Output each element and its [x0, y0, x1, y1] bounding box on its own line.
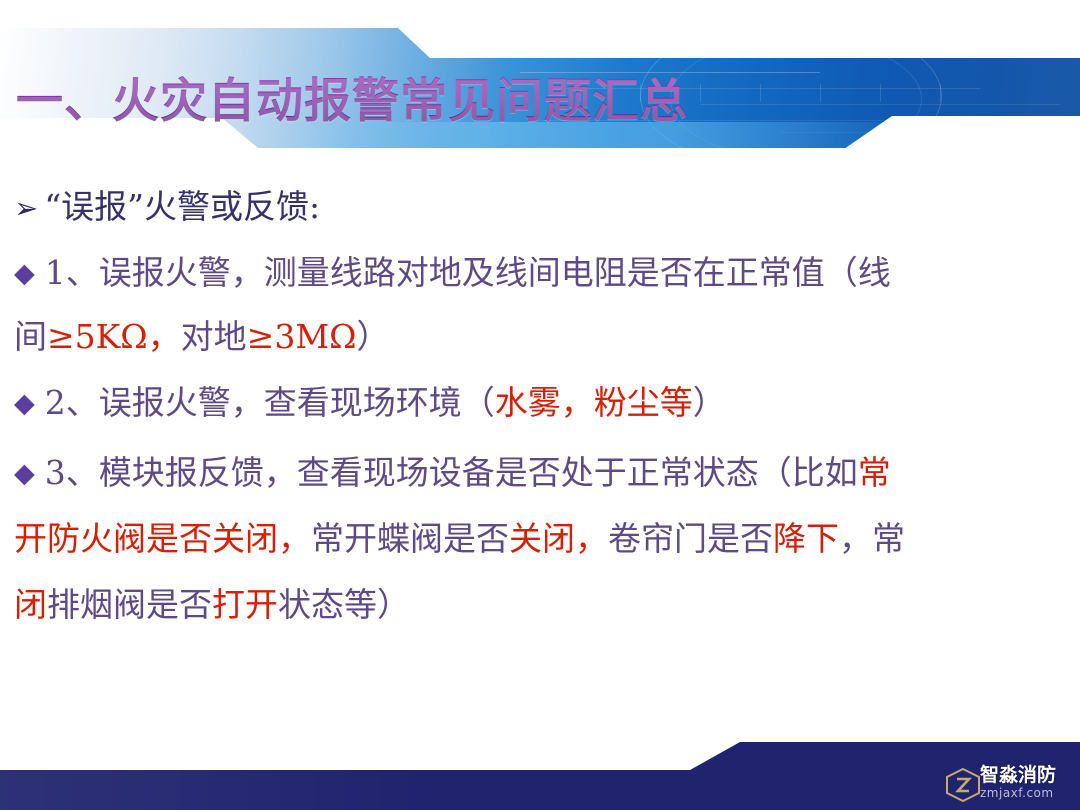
item-text-3-seg-0: 模块报反馈，查看现场设备是否处于正常状态（比如	[99, 453, 858, 492]
content-line-item-1-cont: 间≥5KΩ，对地≥3MΩ）	[14, 310, 1066, 358]
item-number-3: 3、	[45, 453, 99, 492]
item-text-1-seg-0: 误报火警，测量线路对地及线间电阻是否在正常值（线	[99, 253, 891, 292]
item-3-contA-seg-0: 开防火阀是否关闭，	[14, 519, 311, 558]
item-3-contA-seg-3: 卷帘门是否	[608, 519, 773, 558]
item-1-cont-seg-0: 间	[14, 317, 47, 356]
item-1-cont-seg-4: ）	[356, 317, 389, 356]
item-3-contB-seg-0: 闭	[14, 585, 47, 624]
content-line-item-3: ◆3、模块报反馈，查看现场设备是否处于正常状态（比如常	[14, 446, 1066, 494]
item-3-contA-seg-1: 常开蝶阀是否	[311, 519, 509, 558]
slide-body: ➢“误报”火警或反馈: ◆1、误报火警，测量线路对地及线间电阻是否在正常值（线 …	[0, 168, 1080, 748]
diamond-bullet-icon: ◆	[14, 258, 45, 289]
item-1-cont-seg-2: 对地	[181, 317, 247, 356]
item-3-contA-seg-4: 降下	[773, 519, 839, 558]
content-line-item-2: ◆2、误报火警，查看现场环境（水雾，粉尘等）	[14, 376, 1066, 424]
slide-canvas: 一、火灾自动报警常见问题汇总 ➢“误报”火警或反馈: ◆1、误报火警，测量线路对…	[0, 0, 1080, 810]
lead-line: ➢“误报”火警或反馈:	[14, 180, 1066, 228]
item-1-cont-seg-3: ≥3MΩ	[247, 317, 357, 356]
item-text-3-seg-1: 常	[858, 453, 891, 492]
content-line-item-3-cont-a: 开防火阀是否关闭，常开蝶阀是否关闭，卷帘门是否降下，常	[14, 512, 1066, 560]
item-number-1: 1、	[45, 253, 99, 292]
watermark-logo-icon	[946, 768, 980, 802]
item-1-cont-seg-1: ≥5KΩ，	[47, 317, 181, 356]
item-3-contB-seg-3: 状态等）	[278, 585, 410, 624]
diamond-bullet-icon: ◆	[14, 458, 45, 489]
content-line-item-3-cont-b: 闭排烟阀是否打开状态等）	[14, 578, 1066, 626]
item-3-contB-seg-2: 打开	[212, 585, 278, 624]
watermark-text: 智淼消防 zmjaxf.com	[980, 764, 1072, 800]
item-3-contA-seg-2: 关闭，	[509, 519, 608, 558]
watermark: 智淼消防 zmjaxf.com	[946, 762, 1072, 806]
item-text-2-seg-1: 水雾，粉尘等	[495, 383, 693, 422]
item-number-2: 2、	[45, 383, 99, 422]
arrow-bullet-icon: ➢	[14, 191, 44, 225]
content-line-item-1: ◆1、误报火警，测量线路对地及线间电阻是否在正常值（线	[14, 246, 1066, 294]
item-text-2-seg-0: 误报火警，查看现场环境（	[99, 383, 495, 422]
item-3-contB-seg-1: 排烟阀是否	[47, 585, 212, 624]
watermark-url: zmjaxf.com	[980, 786, 1072, 800]
watermark-name: 智淼消防	[980, 764, 1072, 786]
item-3-contA-seg-5: ，常	[839, 519, 905, 558]
slide-title: 一、火灾自动报警常见问题汇总	[16, 72, 688, 132]
diamond-bullet-icon: ◆	[14, 388, 45, 419]
lead-line-text: “误报”火警或反馈:	[44, 187, 320, 226]
item-text-2-seg-2: ）	[693, 383, 726, 422]
